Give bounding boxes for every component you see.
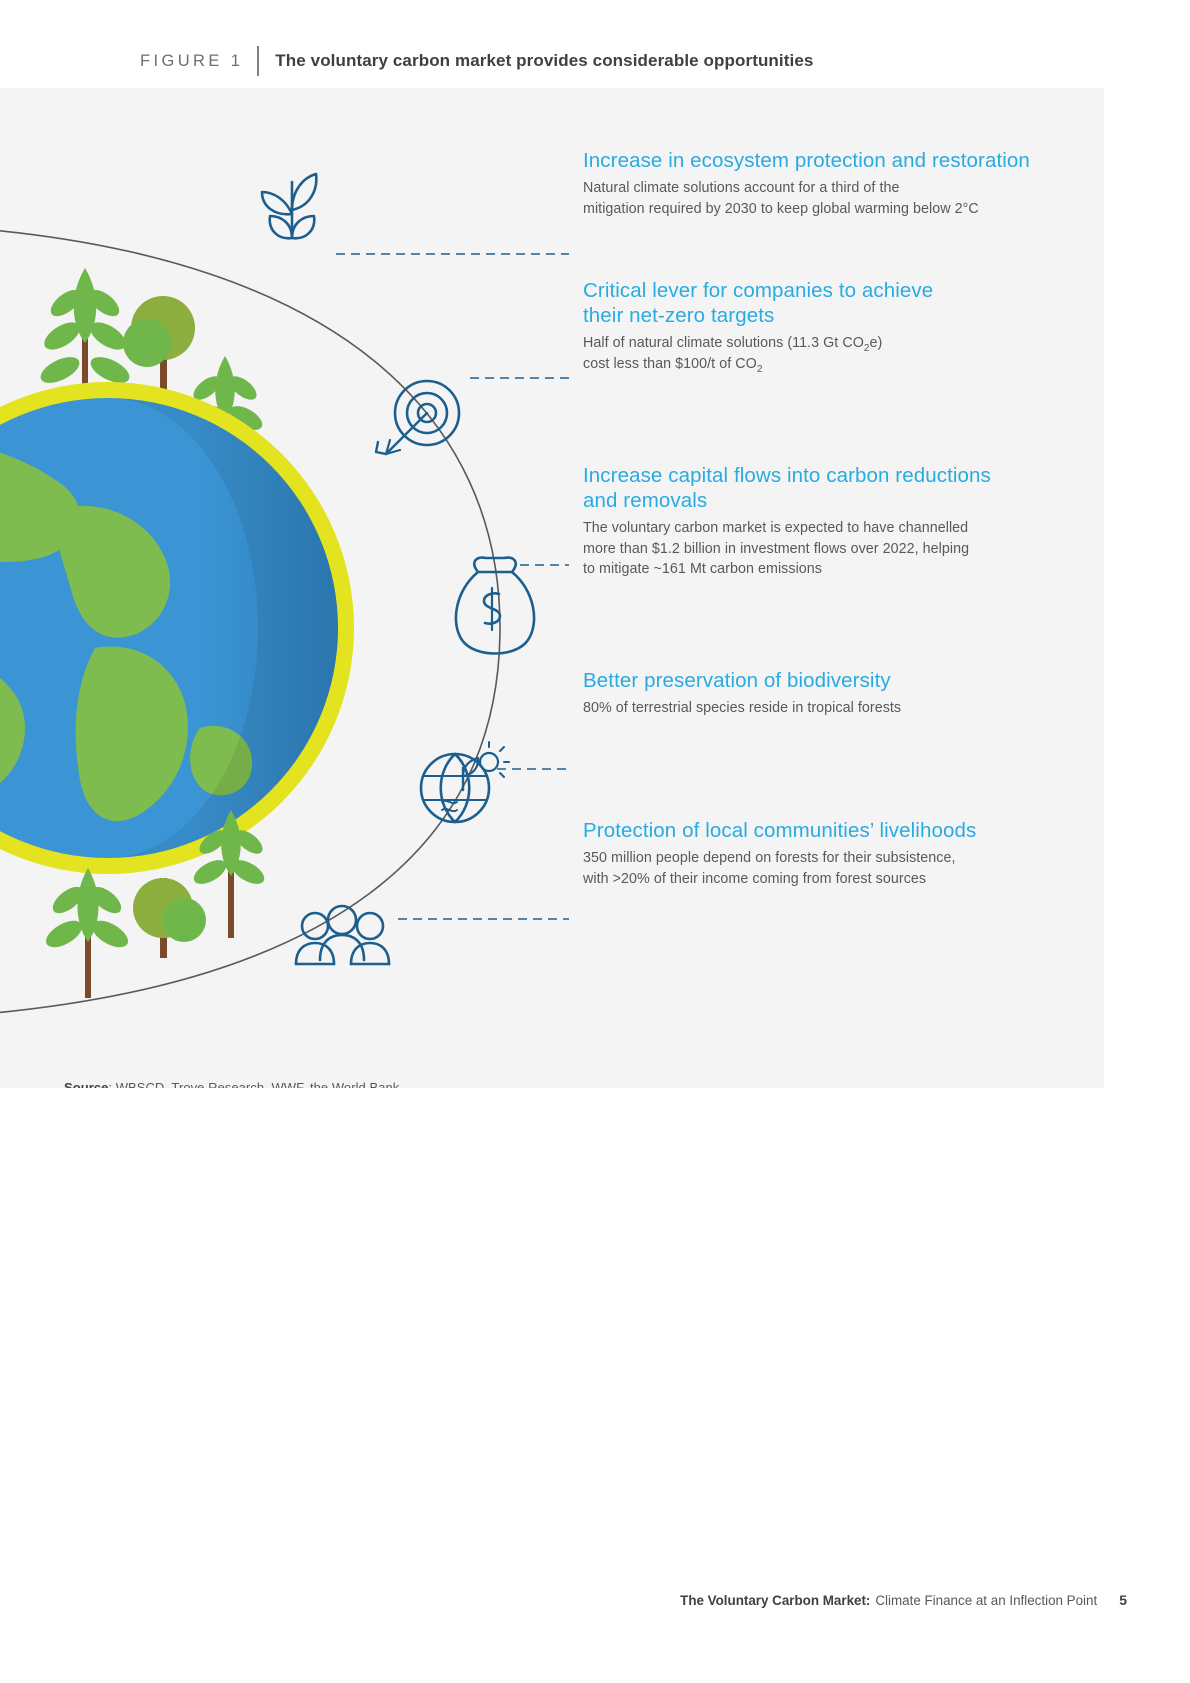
benefit-item-capital-flows: Increase capital flows into carbon reduc… [583, 463, 991, 580]
benefit-body: The voluntary carbon market is expected … [583, 518, 991, 580]
source-label: Source [64, 1080, 108, 1088]
benefit-body: 80% of terrestrial species reside in tro… [583, 698, 901, 719]
page-footer: The Voluntary Carbon Market: Climate Fin… [680, 1592, 1127, 1608]
header-divider [257, 46, 259, 76]
figure-panel: Increase in ecosystem protection and res… [0, 88, 1104, 1088]
benefit-item-biodiversity: Better preservation of biodiversity 80% … [583, 668, 901, 719]
figure-number-label: FIGURE 1 [140, 52, 243, 71]
source-text: WBSCD, Trove Research, WWF, the World Ba… [116, 1080, 400, 1088]
benefit-heading: Protection of local communities’ livelih… [583, 818, 976, 843]
source-line: Source: WBSCD, Trove Research, WWF, the … [64, 1080, 399, 1088]
subscript-two: 2 [757, 363, 763, 374]
benefit-heading: Increase capital flows into carbon reduc… [583, 463, 991, 513]
figure-title: The voluntary carbon market provides con… [275, 51, 813, 71]
benefit-items-list: Increase in ecosystem protection and res… [0, 88, 1104, 1088]
benefit-item-local-communities: Protection of local communities’ livelih… [583, 818, 976, 889]
footer-title: The Voluntary Carbon Market: [680, 1593, 870, 1608]
benefit-item-net-zero-lever: Critical lever for companies to achieve … [583, 278, 933, 374]
figure-header: FIGURE 1 The voluntary carbon market pro… [140, 44, 813, 78]
page-number: 5 [1119, 1592, 1127, 1608]
benefit-body: 350 million people depend on forests for… [583, 848, 976, 889]
footer-subtitle: Climate Finance at an Inflection Point [875, 1593, 1097, 1608]
benefit-heading: Critical lever for companies to achieve … [583, 278, 933, 328]
figure-page: FIGURE 1 The voluntary carbon market pro… [0, 0, 1190, 1683]
benefit-heading: Better preservation of biodiversity [583, 668, 901, 693]
benefit-heading: Increase in ecosystem protection and res… [583, 148, 1030, 173]
benefit-body: Half of natural climate solutions (11.3 … [583, 333, 933, 374]
source-separator: : [108, 1080, 115, 1088]
benefit-body: Natural climate solutions account for a … [583, 178, 1030, 219]
benefit-item-ecosystem-protection: Increase in ecosystem protection and res… [583, 148, 1030, 219]
